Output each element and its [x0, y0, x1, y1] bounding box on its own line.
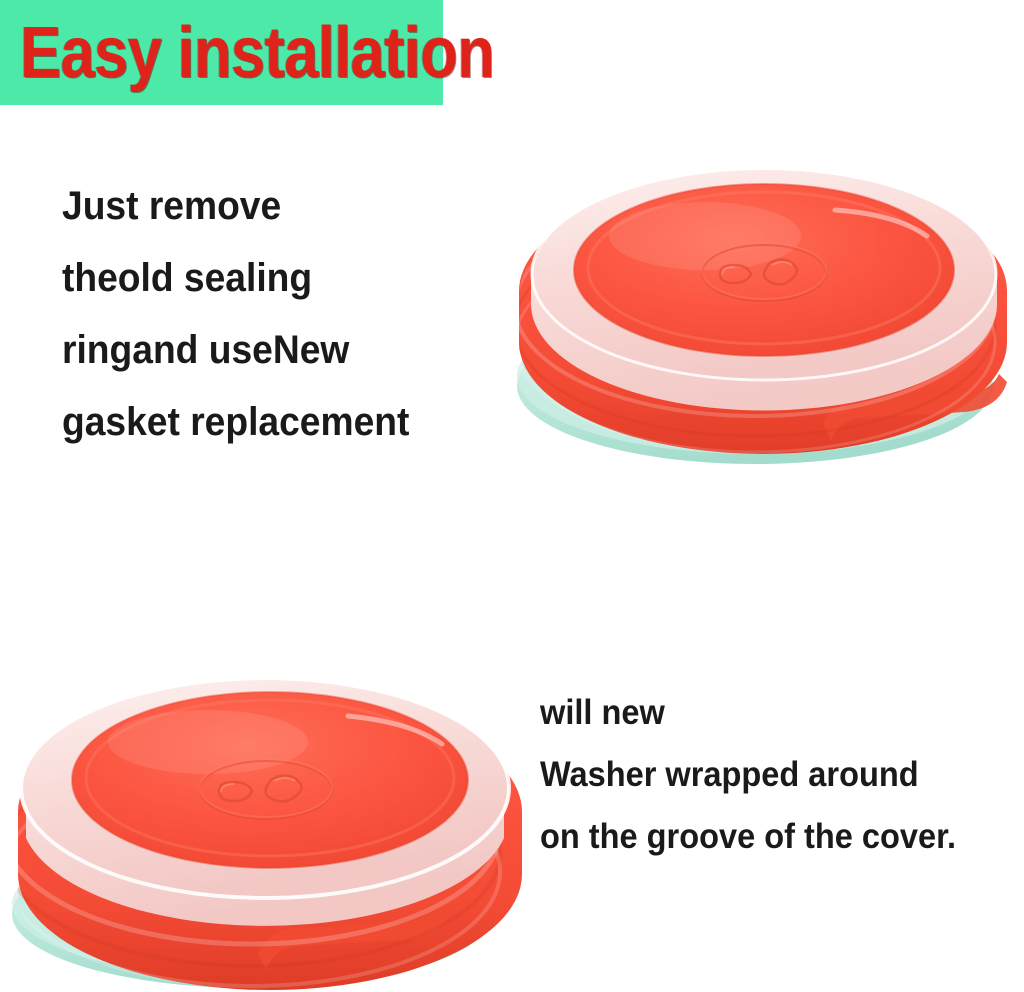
instruction-right-line-3: on the groove of the cover. [540, 806, 956, 868]
instruction-left-line-4: gasket replacement [62, 386, 409, 458]
instruction-left-line-1: Just remove [62, 170, 409, 242]
instruction-left-line-3: ringand useNew [62, 314, 409, 386]
banner-title: Easy installation [20, 17, 494, 89]
instruction-right-line-2: Washer wrapped around [540, 744, 956, 806]
easy-installation-banner: Easy installation [0, 0, 443, 105]
instruction-text-left: Just remove theold sealing ringand useNe… [62, 170, 436, 458]
product-photo-lid-closeup [8, 642, 530, 992]
product-photo-lid-angled [505, 128, 1017, 476]
instruction-left-line-2: theold sealing [62, 242, 409, 314]
instruction-right-line-1: will new [540, 682, 956, 744]
instruction-text-right: will new Washer wrapped around on the gr… [540, 682, 987, 868]
